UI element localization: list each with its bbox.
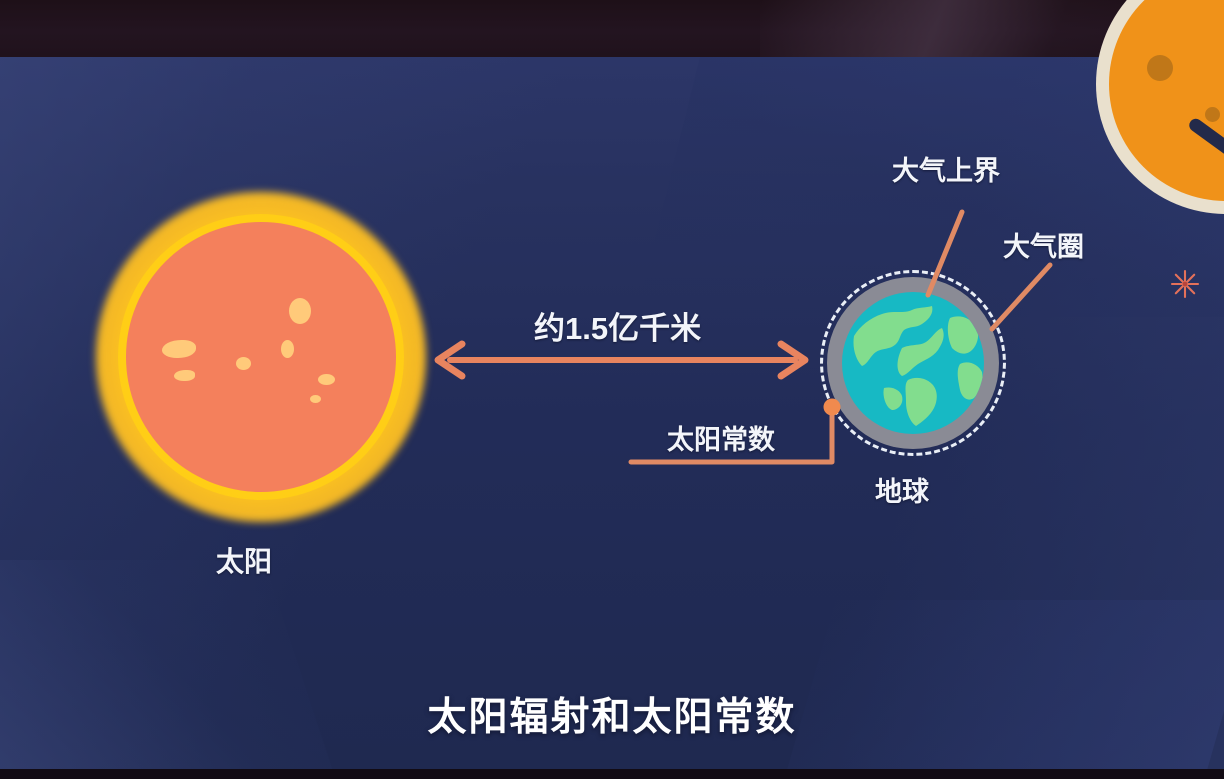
planet-crater [1205,107,1220,122]
page-title: 太阳辐射和太阳常数 [427,696,796,739]
planet-crater [1147,55,1173,81]
starburst-icon [1170,269,1200,299]
distance-label: 约1.5亿千米 [534,303,701,348]
upper-atmosphere-label: 大气上界 [892,149,1000,188]
title-bar: 太阳辐射和太阳常数 [0,686,1224,742]
sun-spot [162,340,196,358]
sun-spot [310,395,321,403]
sun-icon [96,192,426,522]
planet-surface-streak [1187,116,1224,161]
earth-globe-icon [820,270,1006,456]
sun-spot [174,370,195,381]
planet-body [1109,0,1224,201]
earth-continents [842,292,984,434]
sun-spot [236,357,251,370]
earth-label: 地球 [875,470,929,509]
sun-core [126,222,396,492]
atmosphere-label: 大气圈 [1003,225,1084,264]
diagram-canvas: 约1.5亿千米 大气上界 大气圈 太阳常数 太阳 地球 太阳辐射和太阳常数 [0,0,1224,779]
solar-constant-label: 太阳常数 [667,418,775,457]
bottom-dark-band [0,769,1224,779]
sun-spot [289,298,311,324]
sun-spot [281,340,294,358]
earth-surface [842,292,984,434]
sun-spot [318,374,335,385]
sun-label: 太阳 [216,540,272,580]
partial-planet-icon [1096,0,1224,214]
